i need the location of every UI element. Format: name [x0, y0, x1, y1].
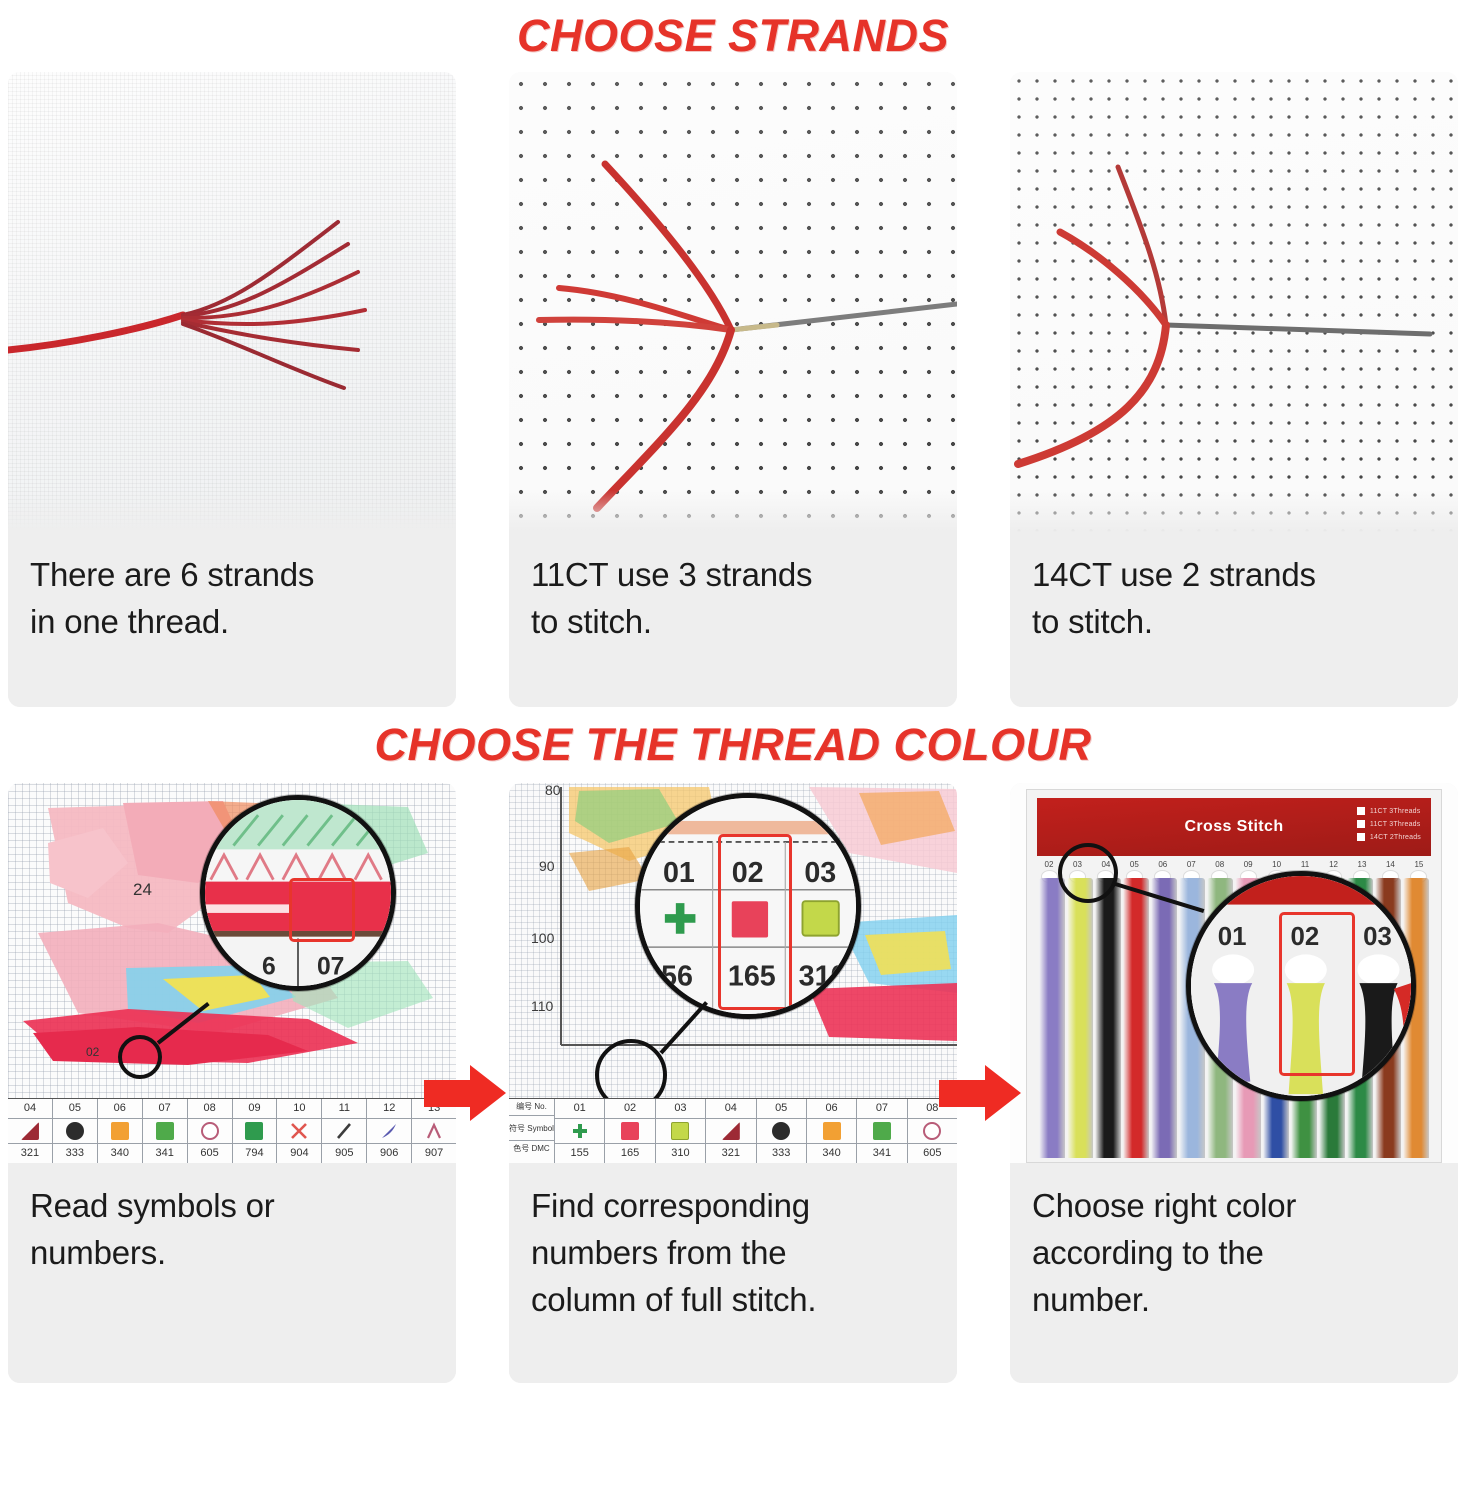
legend-dmc: 341 — [873, 1144, 891, 1163]
legend-dmc: 333 — [772, 1144, 790, 1163]
legend-dmc: 341 — [155, 1144, 173, 1163]
card-read-symbols: 24 02 — [8, 783, 456, 1383]
legend-symbol-square-icon — [807, 1118, 856, 1144]
thread-option-label: 11CT 3Threads — [1370, 821, 1421, 828]
two-strands-needle-illustration — [1010, 72, 1458, 532]
magnifier-source-circle-threads — [1058, 843, 1118, 903]
card-six-strands: There are 6 strands in one thread. — [8, 72, 456, 707]
legend-symbol-plus-icon — [555, 1118, 604, 1144]
legend-dmc: 340 — [822, 1144, 840, 1163]
legend-symbol-square-icon — [857, 1118, 906, 1144]
svg-text:07: 07 — [317, 954, 344, 981]
legend-column: 03 310 — [656, 1099, 706, 1163]
thread-skein — [1151, 878, 1177, 1158]
legend-column: 09 794 — [233, 1099, 278, 1163]
legend-index: 06 — [114, 1099, 126, 1118]
photo-aida-14ct — [1010, 72, 1458, 532]
magnifier-source-circle-symbols — [118, 1035, 162, 1079]
thread-slot-number: 12 — [1322, 860, 1346, 869]
caption-read-symbols: Read symbols or numbers. — [8, 1163, 456, 1383]
thread-slot-number: 09 — [1236, 860, 1260, 869]
legend-index: 04 — [725, 1099, 737, 1118]
legend-dmc: 904 — [290, 1144, 308, 1163]
legend-symbol-square-icon — [233, 1118, 277, 1144]
legend-column: 01 155 — [555, 1099, 605, 1163]
legend-index: 09 — [248, 1099, 260, 1118]
legend-index: 05 — [69, 1099, 81, 1118]
legend-dmc: 155 — [571, 1144, 589, 1163]
legend-symbol-square-icon — [98, 1118, 142, 1144]
svg-text:310: 310 — [799, 960, 847, 992]
legend-symbol-hex-icon — [757, 1118, 806, 1144]
thumb-number-chart: 80 90 100 110 01 0 — [509, 783, 957, 1163]
highlight-box-numbers — [718, 834, 792, 1010]
legend-index: 08 — [203, 1099, 215, 1118]
legend-dmc: 333 — [66, 1144, 84, 1163]
legend-symbol-hex-icon — [53, 1118, 97, 1144]
svg-text:01: 01 — [1218, 923, 1247, 951]
magnifier-lens-threads: 01 02 03 — [1186, 871, 1416, 1101]
three-strands-needle-illustration — [509, 72, 957, 532]
thread-option: 14CT 2Threads — [1357, 833, 1421, 841]
thread-card-title: Cross Stitch — [1184, 818, 1283, 836]
card-find-numbers: 80 90 100 110 01 0 — [509, 783, 957, 1383]
photo-aida-11ct — [509, 72, 957, 532]
legend-row-label-dmc: 色号 DMC — [513, 1141, 549, 1157]
legend-symbol-leaf-icon — [367, 1118, 411, 1144]
caption-six-strands: There are 6 strands in one thread. — [8, 532, 456, 707]
thread-option: 11CT 3Threads — [1357, 807, 1421, 815]
card-14ct: 14CT use 2 strands to stitch. — [1010, 72, 1458, 707]
legend-index: 05 — [775, 1099, 787, 1118]
legend-column: 05 333 — [53, 1099, 98, 1163]
legend-index: 07 — [876, 1099, 888, 1118]
thread-slot-number: 07 — [1179, 860, 1203, 869]
thread-slot-number: 13 — [1350, 860, 1374, 869]
thread-option-label: 14CT 2Threads — [1370, 834, 1421, 841]
thread-slot-number: 08 — [1208, 860, 1232, 869]
thread-option: 11CT 3Threads — [1357, 820, 1421, 828]
checkbox-icon — [1357, 807, 1365, 815]
flow-arrow-1 — [423, 1058, 513, 1128]
legend-symbol-square-icon — [605, 1118, 654, 1144]
legend-index: 01 — [574, 1099, 586, 1118]
legend-dmc: 321 — [21, 1144, 39, 1163]
six-strands-thread-illustration — [8, 72, 456, 532]
photo-bottom-fade — [1010, 490, 1458, 532]
highlight-box-threads — [1279, 912, 1355, 1076]
legend-column: 08 605 — [188, 1099, 233, 1163]
thread-skein — [1095, 878, 1121, 1158]
legend-column: 06 340 — [98, 1099, 143, 1163]
legend-index: 08 — [926, 1099, 938, 1118]
legend-symbol-triangle-icon — [8, 1118, 52, 1144]
flow-arrow-2 — [938, 1058, 1028, 1128]
thread-slot-number: 15 — [1407, 860, 1431, 869]
legend-index: 04 — [24, 1099, 36, 1118]
card-choose-color: Cross Stitch 11CT 3Threads 11CT 3Threads — [1010, 783, 1458, 1383]
legend-index: 10 — [293, 1099, 305, 1118]
symbol-legend-table: 04 321 05 333 06 — [8, 1098, 456, 1163]
svg-text:110: 110 — [531, 998, 554, 1014]
svg-text:90: 90 — [539, 858, 555, 874]
legend-column: 04 321 — [706, 1099, 756, 1163]
svg-text:6: 6 — [262, 954, 276, 981]
caption-find-numbers: Find corresponding numbers from the colu… — [509, 1163, 957, 1383]
legend-symbol-square-icon — [656, 1118, 705, 1144]
legend-index: 07 — [159, 1099, 171, 1118]
highlight-box-symbols — [289, 878, 355, 942]
checkbox-icon — [1357, 820, 1365, 828]
caption-choose-color: Choose right color according to the numb… — [1010, 1163, 1458, 1383]
legend-column: 11 905 — [322, 1099, 367, 1163]
svg-text:56: 56 — [661, 960, 693, 992]
thread-slot-number: 14 — [1378, 860, 1402, 869]
legend-index: 11 — [339, 1099, 350, 1118]
legend-dmc: 605 — [923, 1144, 941, 1163]
caption-11ct: 11CT use 3 strands to stitch. — [509, 532, 957, 707]
checkbox-icon — [1357, 833, 1365, 841]
chart-cell-number: 24 — [133, 880, 152, 899]
legend-symbol-cross-icon — [277, 1118, 321, 1144]
thread-slot-number: 11 — [1293, 860, 1317, 869]
thread-option-label: 11CT 3Threads — [1370, 808, 1421, 815]
colour-card-row: 24 02 — [0, 783, 1466, 1383]
legend-column: 07 341 — [857, 1099, 907, 1163]
legend-dmc: 605 — [200, 1144, 218, 1163]
legend-row-header-column: 编号 No. 符号 Symbol 色号 DMC — [509, 1099, 555, 1163]
legend-column: 04 321 — [8, 1099, 53, 1163]
legend-row-label-no: 编号 No. — [516, 1099, 547, 1115]
svg-text:02: 02 — [86, 1045, 100, 1059]
thread-slot-number: 10 — [1265, 860, 1289, 869]
legend-column: 10 904 — [277, 1099, 322, 1163]
legend-index: 06 — [825, 1099, 837, 1118]
legend-row-label-symbol: 符号 Symbol — [509, 1115, 554, 1141]
legend-dmc: 906 — [380, 1144, 398, 1163]
strands-card-row: There are 6 strands in one thread. 11CT … — [0, 72, 1466, 707]
photo-plain-fabric-six-strands — [8, 72, 456, 532]
thread-card-options: 11CT 3Threads 11CT 3Threads 14CT 2Thread… — [1357, 807, 1421, 841]
legend-dmc: 310 — [671, 1144, 689, 1163]
number-legend-table: 编号 No. 符号 Symbol 色号 DMC 01 155 02 — [509, 1098, 957, 1163]
legend-index: 03 — [674, 1099, 686, 1118]
magnifier-lens-symbols: 6 07 — [200, 795, 396, 991]
svg-text:01: 01 — [663, 857, 695, 889]
page-title-choose-strands: CHOOSE STRANDS — [0, 0, 1466, 72]
thread-skein — [1039, 878, 1065, 1158]
legend-symbol-triangle-icon — [706, 1118, 755, 1144]
legend-index: 12 — [383, 1099, 395, 1118]
legend-dmc: 321 — [722, 1144, 740, 1163]
infographic-page: CHOOSE STRANDS There are 6 strands in on… — [0, 0, 1466, 1500]
thread-skein — [1123, 878, 1149, 1158]
thread-slot-number: 05 — [1122, 860, 1146, 869]
legend-dmc: 907 — [425, 1144, 443, 1163]
legend-symbol-square-icon — [143, 1118, 187, 1144]
legend-dmc: 794 — [245, 1144, 263, 1163]
card-11ct: 11CT use 3 strands to stitch. — [509, 72, 957, 707]
thumb-thread-card: Cross Stitch 11CT 3Threads 11CT 3Threads — [1010, 783, 1458, 1163]
photo-bottom-fade — [509, 490, 957, 532]
svg-text:80: 80 — [545, 783, 561, 798]
legend-column: 06 340 — [807, 1099, 857, 1163]
thread-slot-number: 06 — [1151, 860, 1175, 869]
thread-skein — [1067, 878, 1093, 1158]
svg-text:03: 03 — [1363, 923, 1392, 951]
legend-column: 05 333 — [757, 1099, 807, 1163]
caption-14ct: 14CT use 2 strands to stitch. — [1010, 532, 1458, 707]
legend-dmc: 165 — [621, 1144, 639, 1163]
magnifier-lens-numbers: 01 02 03 56 165 310 — [635, 793, 861, 1019]
photo-bottom-fade — [8, 490, 456, 532]
legend-index: 02 — [624, 1099, 636, 1118]
legend-dmc: 905 — [335, 1144, 353, 1163]
thumb-symbol-chart: 24 02 — [8, 783, 456, 1163]
page-title-choose-thread-colour: CHOOSE THE THREAD COLOUR — [0, 707, 1466, 783]
legend-dmc: 340 — [111, 1144, 129, 1163]
legend-column: 12 906 — [367, 1099, 412, 1163]
svg-text:100: 100 — [531, 930, 555, 946]
legend-symbol-circle-icon — [188, 1118, 232, 1144]
svg-text:03: 03 — [804, 857, 836, 889]
legend-column: 07 341 — [143, 1099, 188, 1163]
legend-symbol-slash-icon — [322, 1118, 366, 1144]
legend-column: 02 165 — [605, 1099, 655, 1163]
